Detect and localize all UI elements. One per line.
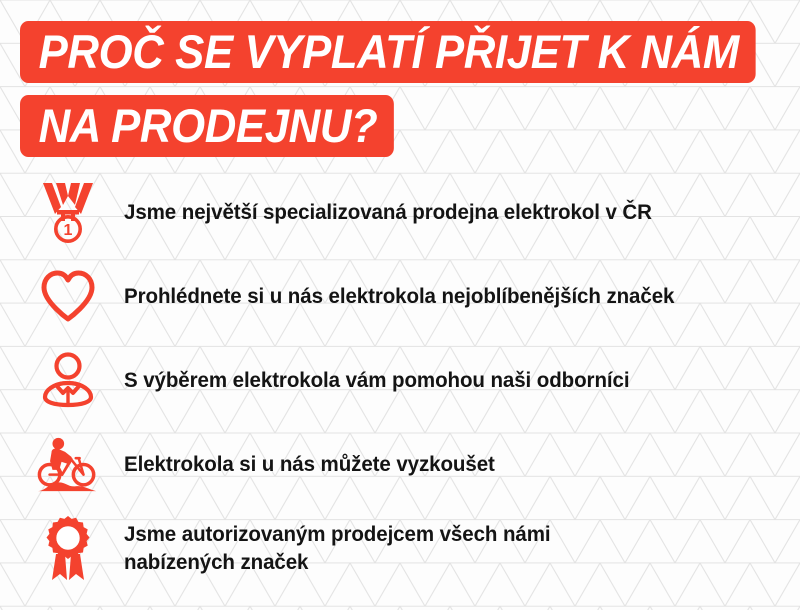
feature-text-line: Jsme autorizovaným prodejcem všech námi <box>124 520 750 548</box>
feature-text-line: S výběrem elektrokola vám pomohou naši o… <box>124 366 750 394</box>
feature-text: Prohlédnete si u nás elektrokola nejoblí… <box>124 282 750 310</box>
feature-row: Jsme autorizovaným prodejcem všech námi … <box>0 506 800 590</box>
feature-row: Elektrokola si u nás můžete vyzkoušet <box>0 422 800 506</box>
feature-text-line: Prohlédnete si u nás elektrokola nejoblí… <box>124 282 750 310</box>
medal-first-place-icon: 1 <box>36 180 100 244</box>
feature-row: S výběrem elektrokola vám pomohou naši o… <box>0 338 800 422</box>
feature-text-line: Jsme největší specializovaná prodejna el… <box>124 198 750 226</box>
feature-text: S výběrem elektrokola vám pomohou naši o… <box>124 366 750 394</box>
feature-row: Prohlédnete si u nás elektrokola nejoblí… <box>0 254 800 338</box>
award-rosette-icon <box>36 516 100 580</box>
headline-line-1: PROČ SE VYPLATÍ PŘIJET K NÁM <box>20 21 756 83</box>
feature-text-line: nabízených značek <box>124 548 750 576</box>
person-expert-icon <box>36 348 100 412</box>
feature-text: Elektrokola si u nás můžete vyzkoušet <box>124 450 750 478</box>
feature-text: Jsme největší specializovaná prodejna el… <box>124 198 750 226</box>
feature-text-line: Elektrokola si u nás můžete vyzkoušet <box>124 450 750 478</box>
headline-line-2: NA PRODEJNU? <box>20 95 394 157</box>
cyclist-on-hill-icon <box>36 432 100 496</box>
heart-icon <box>36 264 100 328</box>
feature-list: 1 Jsme největší specializovaná prodejna … <box>0 170 800 590</box>
promo-poster: PROČ SE VYPLATÍ PŘIJET K NÁM NA PRODEJNU… <box>0 0 800 610</box>
feature-text: Jsme autorizovaným prodejcem všech námi … <box>124 520 750 576</box>
feature-row: 1 Jsme největší specializovaná prodejna … <box>0 170 800 254</box>
medal-rank-label: 1 <box>64 222 73 239</box>
